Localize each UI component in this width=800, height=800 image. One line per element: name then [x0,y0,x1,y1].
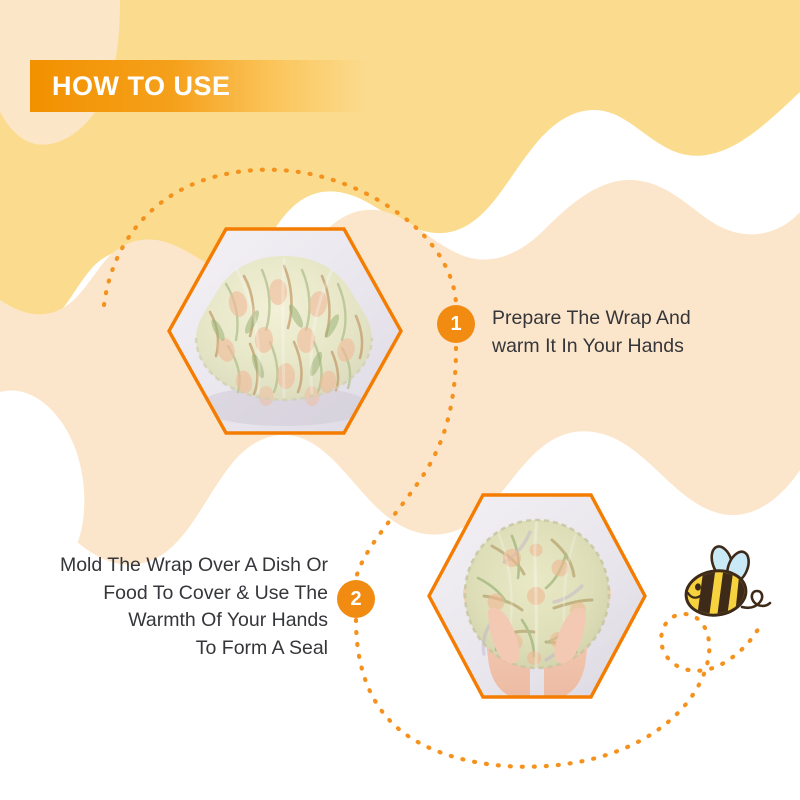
step-1-line-2: warm It In Your Hands [492,333,752,361]
step-badge-1-number: 1 [450,314,461,334]
step-2-description: Mold The Wrap Over A Dish Or Food To Cov… [10,552,328,663]
step-badge-2-number: 2 [350,589,361,609]
step-2-line-1: Mold The Wrap Over A Dish Or [10,552,328,580]
step-2-line-4: To Form A Seal [10,635,328,663]
step-1-line-1: Prepare The Wrap And [492,305,752,333]
bee-eye [695,583,701,590]
step-1-description: Prepare The Wrap And warm It In Your Han… [492,305,752,360]
step-badge-1[interactable]: 1 [437,305,475,343]
bee-icon [676,545,772,631]
step-1-image-frame [166,226,404,436]
header-banner: HOW TO USE [30,60,370,112]
step-2-image-frame [426,492,648,700]
infographic-canvas: HOW TO USE [0,0,800,800]
covered-dish [465,520,609,668]
step-badge-2[interactable]: 2 [337,580,375,618]
step-2-line-2: Food To Cover & Use The [10,580,328,608]
page-title: HOW TO USE [30,71,231,102]
step-2-line-3: Warmth Of Your Hands [10,607,328,635]
